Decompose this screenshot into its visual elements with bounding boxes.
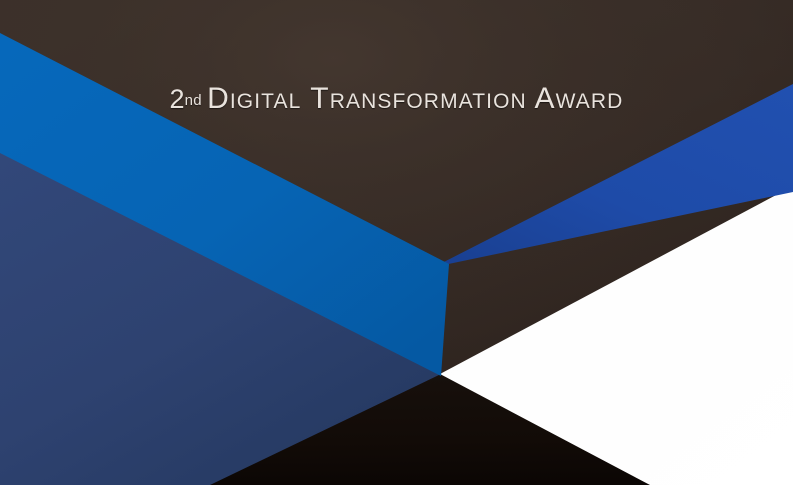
award-slide: 2ndDigital Transformation Award bbox=[0, 0, 793, 485]
background-artwork bbox=[0, 0, 793, 485]
